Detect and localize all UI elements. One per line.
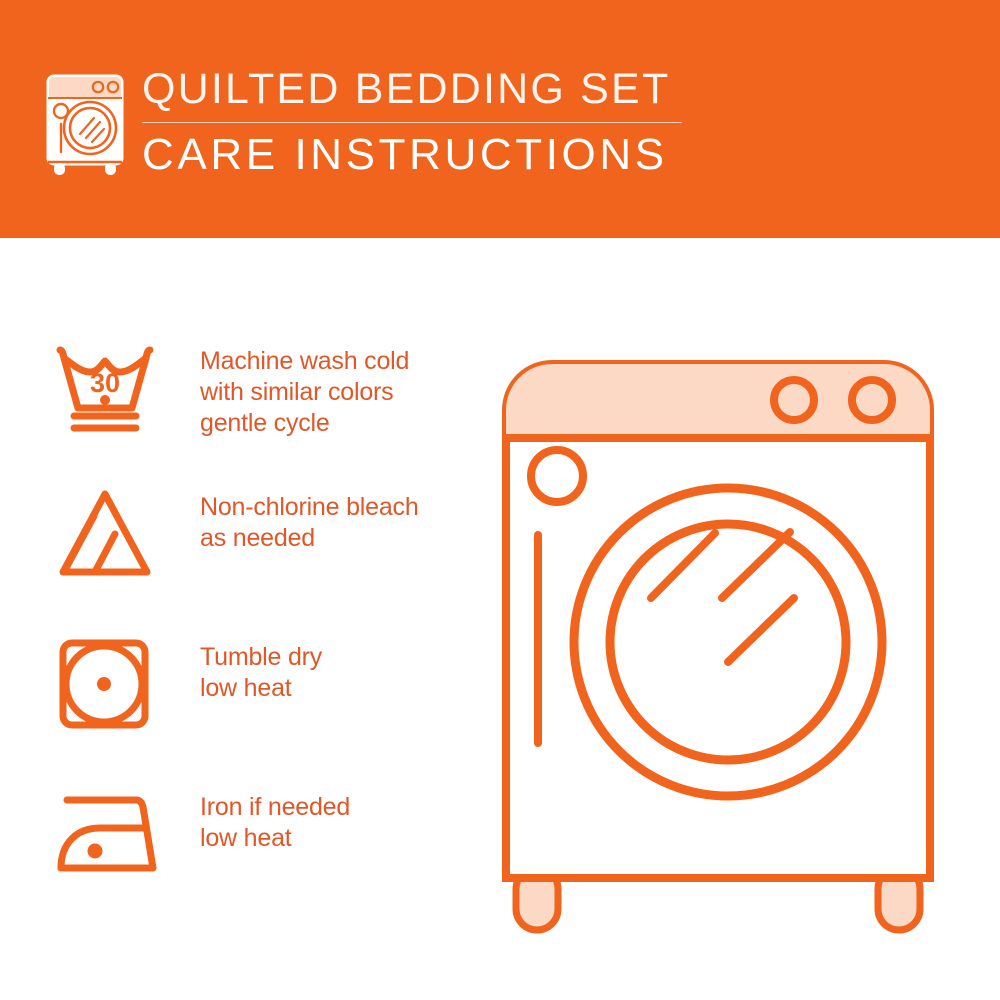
care-text-line: Tumble dry [200,642,322,673]
care-item-text: Machine wash cold with similar colors ge… [200,340,409,439]
title-divider [142,122,682,123]
care-item-text: Tumble dry low heat [200,636,322,704]
care-instructions-page: QUILTED BEDDING SET CARE INSTRUCTIONS 30 [0,0,1000,1000]
tumble-dry-low-heat-icon [52,636,162,732]
care-instruction-list: 30 Machine wash cold with similar colors… [0,238,480,1000]
header-banner: QUILTED BEDDING SET CARE INSTRUCTIONS [0,0,1000,238]
care-text-line: as needed [200,523,419,554]
care-item-machine-wash: 30 Machine wash cold with similar colors… [52,340,472,439]
care-text-line: with similar colors [200,377,409,408]
care-text-line: gentle cycle [200,408,409,439]
care-item-tumble-dry: Tumble dry low heat [52,636,472,732]
wash-temperature-label: 30 [90,368,120,398]
page-title: QUILTED BEDDING SET [142,62,702,116]
wash-tub-30-icon: 30 [52,340,162,436]
triangle-non-chlorine-bleach-icon [52,486,162,582]
care-text-line: Non-chlorine bleach [200,492,419,523]
care-text-line: low heat [200,823,350,854]
care-text-line: Machine wash cold [200,346,409,377]
care-text-line: Iron if needed [200,792,350,823]
iron-low-heat-icon [52,786,162,882]
care-item-text: Iron if needed low heat [200,786,350,854]
care-item-bleach: Non-chlorine bleach as needed [52,486,472,582]
care-text-line: low heat [200,673,322,704]
care-item-text: Non-chlorine bleach as needed [200,486,419,554]
washing-machine-illustration [480,320,980,960]
washing-machine-logo-icon [44,72,126,176]
care-item-iron: Iron if needed low heat [52,786,472,882]
header-title-group: QUILTED BEDDING SET CARE INSTRUCTIONS [142,62,702,183]
page-subtitle: CARE INSTRUCTIONS [142,127,702,183]
washer-control-panel [506,364,930,438]
